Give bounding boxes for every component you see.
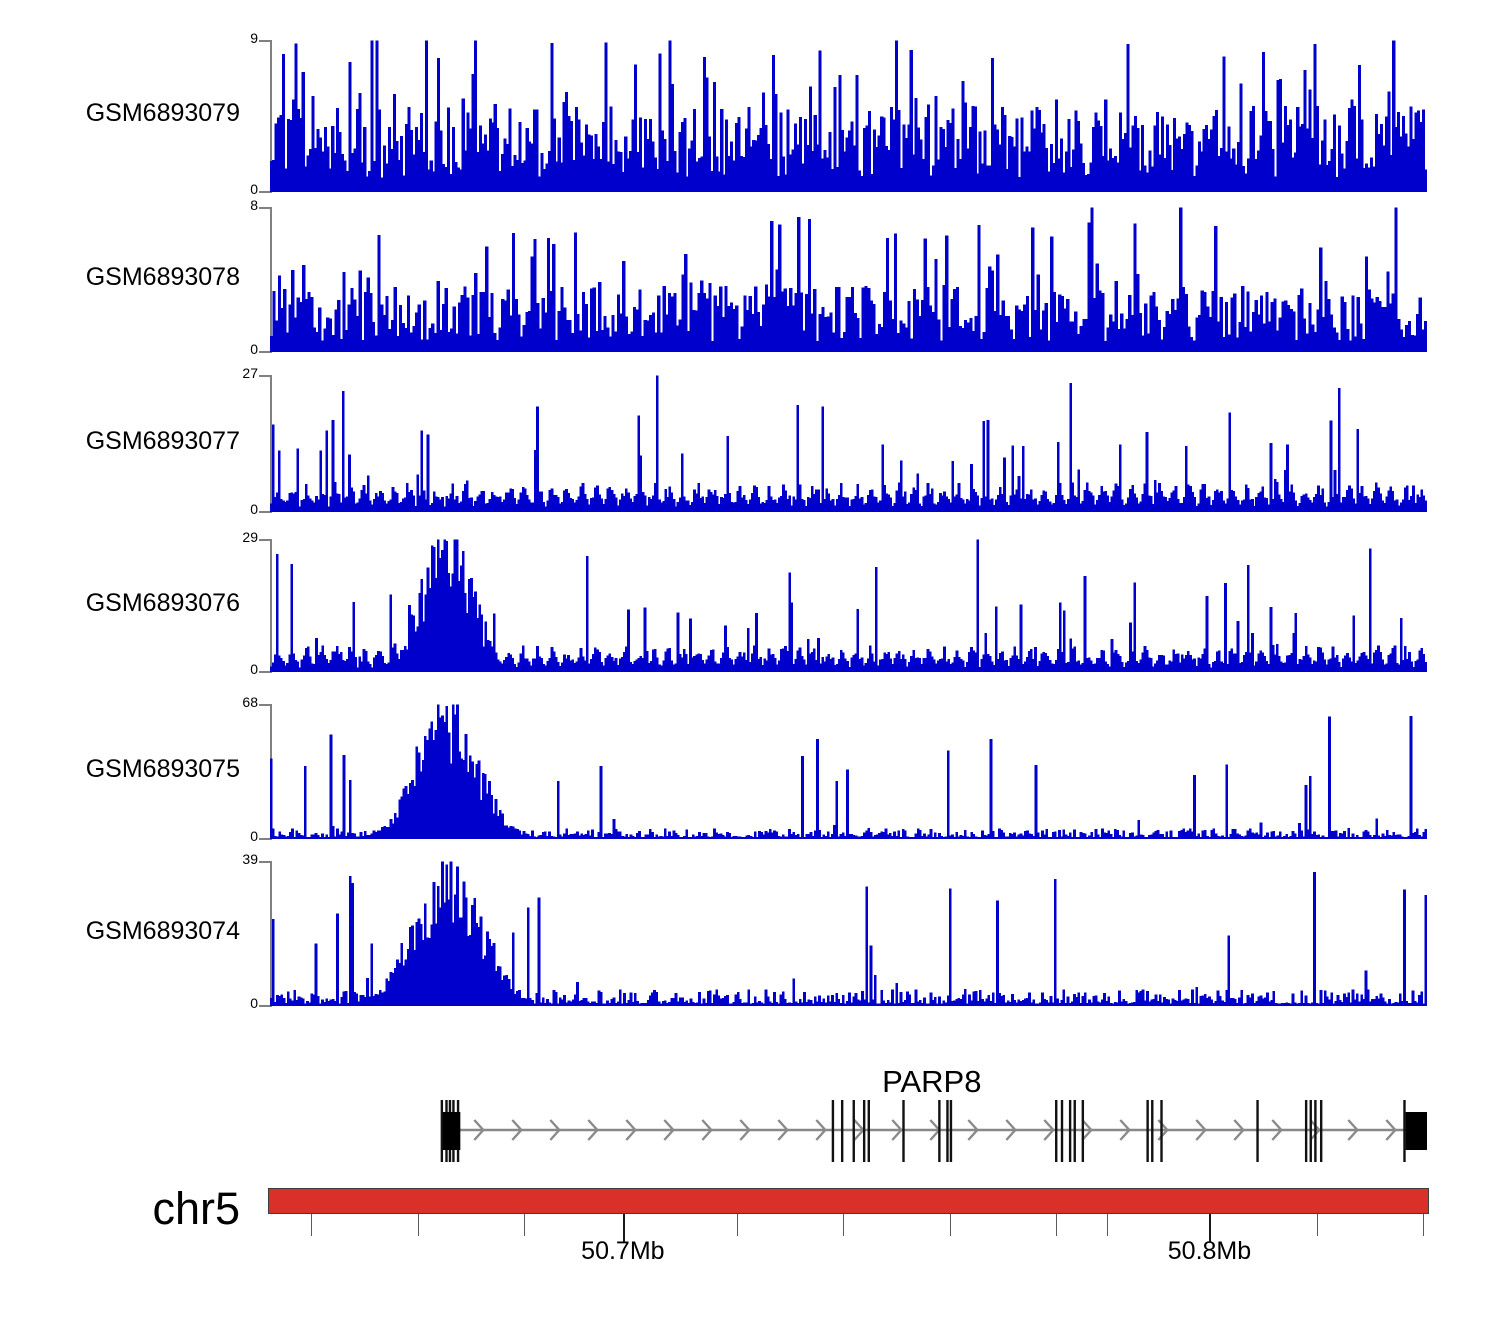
y-axis-min-label: 0	[190, 181, 258, 197]
y-axis-max-label: 68	[190, 694, 258, 710]
track-plot-area	[270, 375, 1427, 512]
ruler-tick	[418, 1214, 419, 1236]
y-axis-min-label: 0	[190, 995, 258, 1011]
y-axis-max-label: 9	[190, 30, 258, 46]
ruler-tick	[737, 1214, 738, 1236]
y-axis-max-label: 27	[190, 365, 258, 381]
ruler-tick	[1056, 1214, 1057, 1236]
ruler-tick	[1317, 1214, 1318, 1236]
gene-model-graphic	[270, 1090, 1433, 1180]
ruler-position-label: 50.8Mb	[1099, 1237, 1319, 1266]
track-plot-area	[270, 207, 1427, 352]
genome-browser-figure: GSM689307990GSM689307880GSM6893077270GSM…	[0, 0, 1500, 1320]
ruler-tick	[1107, 1214, 1108, 1236]
chromosome-ideogram-bar[interactable]	[268, 1188, 1429, 1214]
track-sample-label: GSM6893075	[40, 755, 240, 784]
track-sample-label: GSM6893079	[40, 99, 240, 128]
ruler-tick	[950, 1214, 951, 1236]
chromosome-label: chr5	[20, 1183, 240, 1235]
y-axis-max-label: 8	[190, 197, 258, 213]
ruler-position-label: 50.7Mb	[513, 1237, 733, 1266]
track-sample-label: GSM6893074	[40, 917, 240, 946]
ruler-tick	[1423, 1214, 1424, 1236]
track-sample-label: GSM6893077	[40, 427, 240, 456]
track-sample-label: GSM6893076	[40, 589, 240, 618]
ruler-tick	[843, 1214, 844, 1236]
y-axis-min-label: 0	[190, 501, 258, 517]
y-axis-max-label: 29	[190, 529, 258, 545]
y-axis-min-label: 0	[190, 661, 258, 677]
ruler-tick	[311, 1214, 312, 1236]
ruler-tick	[524, 1214, 525, 1236]
track-plot-area	[270, 861, 1427, 1006]
track-plot-area	[270, 40, 1427, 192]
track-plot-area	[270, 704, 1427, 839]
y-axis-min-label: 0	[190, 341, 258, 357]
y-axis-max-label: 39	[190, 851, 258, 867]
track-sample-label: GSM6893078	[40, 263, 240, 292]
y-axis-min-label: 0	[190, 828, 258, 844]
track-plot-area	[270, 539, 1427, 672]
